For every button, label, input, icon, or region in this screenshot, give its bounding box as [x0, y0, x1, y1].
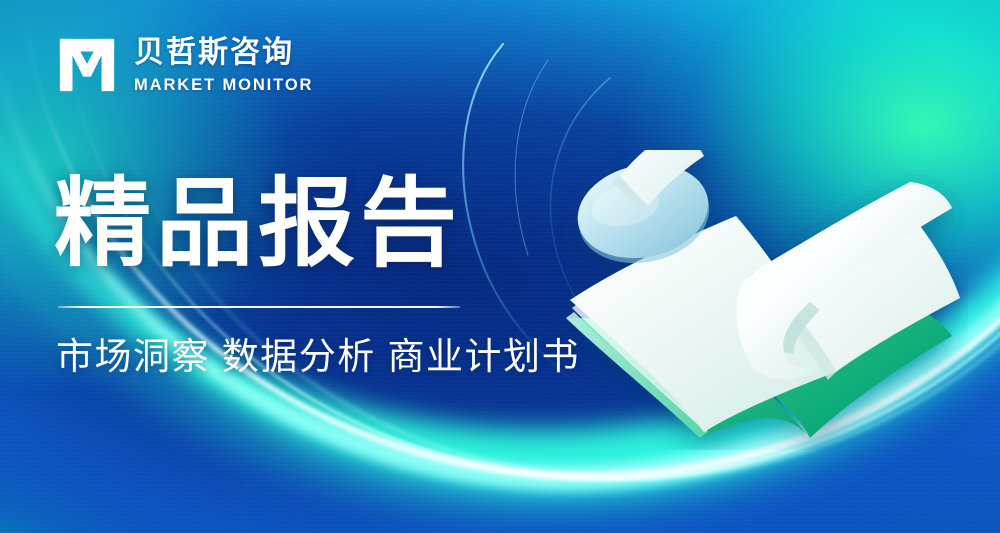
title-divider: [58, 306, 460, 308]
brand-name-cn: 贝哲斯咨询: [134, 37, 313, 69]
market-monitor-m-mark-icon: [56, 34, 118, 96]
report-banner: 贝哲斯咨询 MARKET MONITOR 精品报告 市场洞察 数据分析 商业计划…: [0, 0, 1000, 533]
page-title: 精品报告: [54, 175, 462, 272]
brand-name-en: MARKET MONITOR: [134, 77, 313, 94]
brand-logo-text: 贝哲斯咨询 MARKET MONITOR: [134, 37, 313, 93]
page-subtitle: 市场洞察 数据分析 商业计划书: [56, 334, 580, 380]
open-book-with-magnifier-illustration: [548, 150, 968, 450]
brand-logo[interactable]: 贝哲斯咨询 MARKET MONITOR: [56, 34, 313, 96]
